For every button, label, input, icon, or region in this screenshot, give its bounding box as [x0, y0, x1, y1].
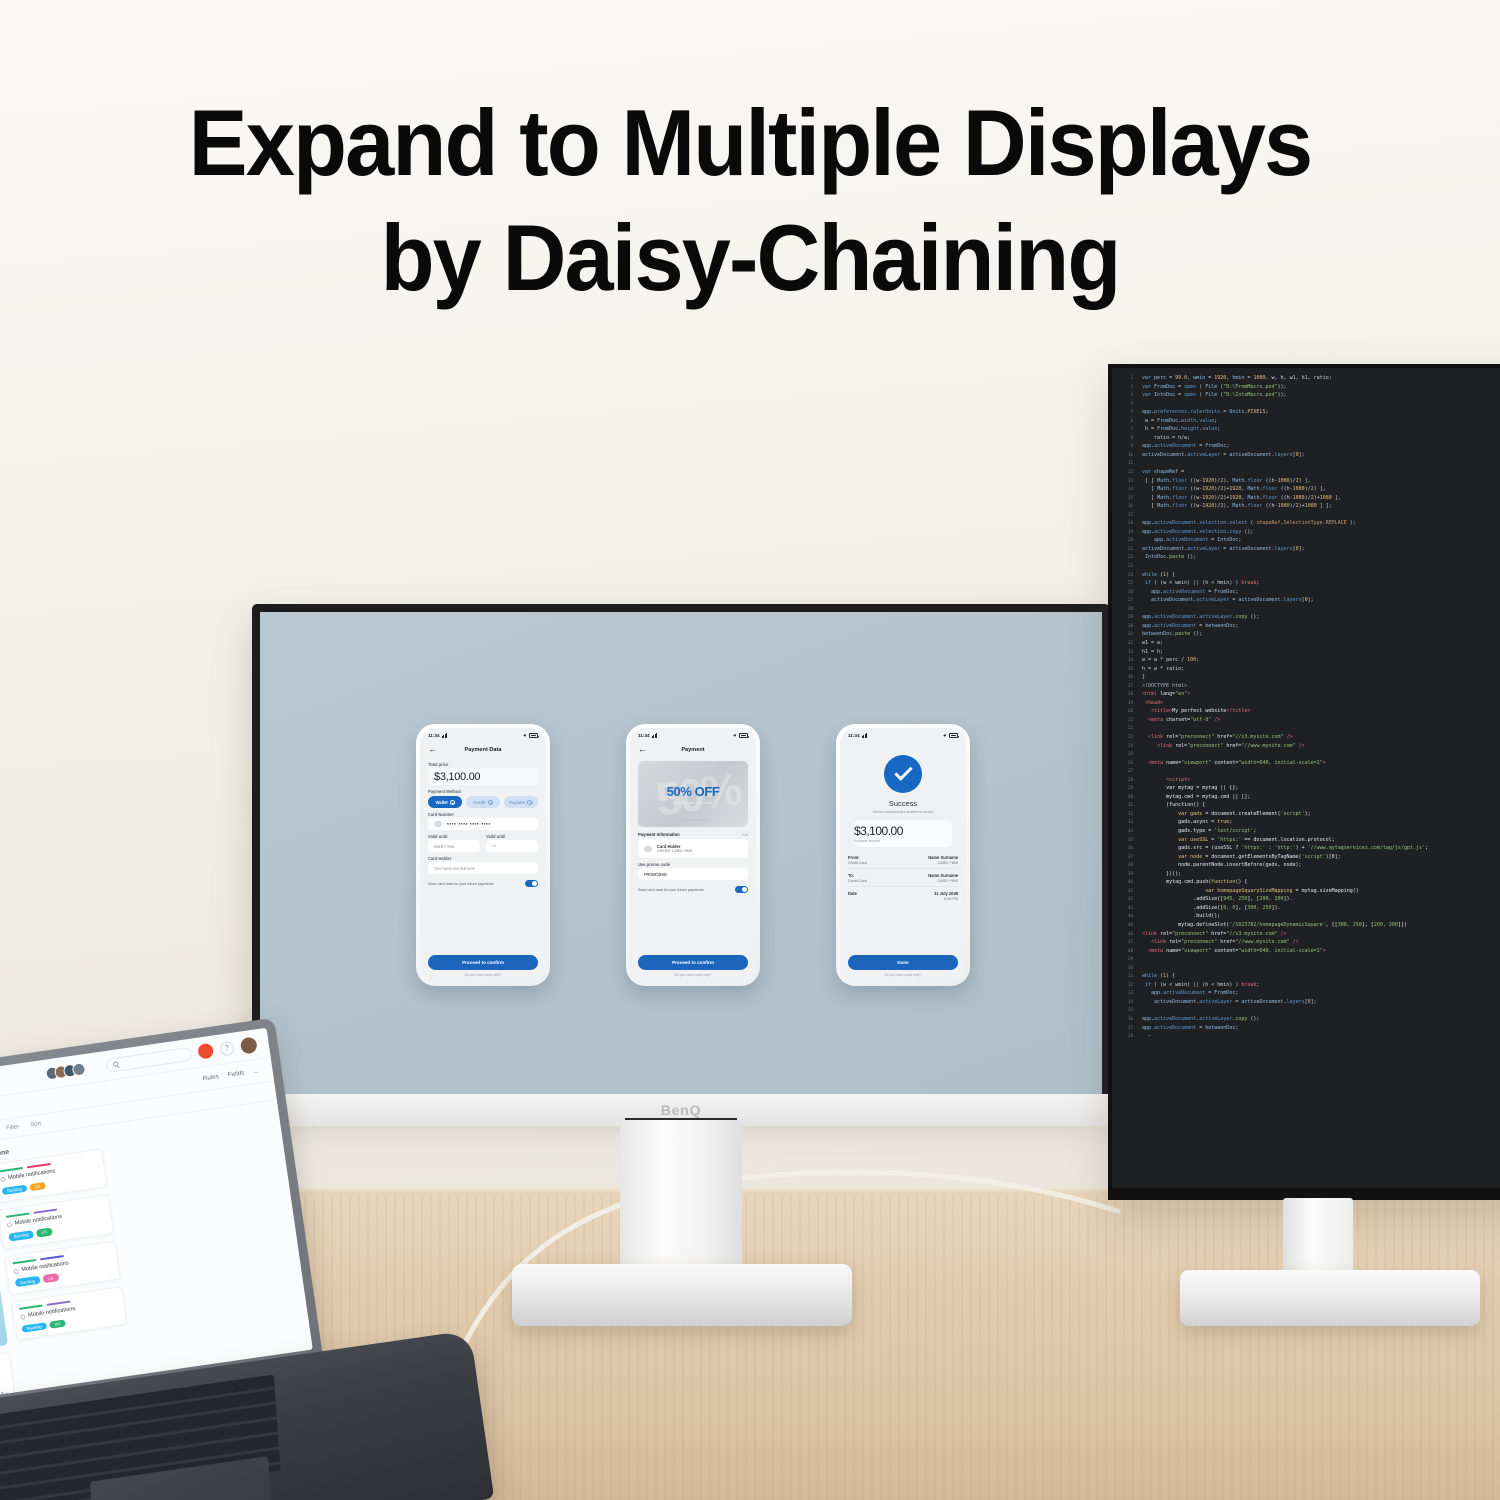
page-title: Expand to Multiple Displays by Daisy-Cha…: [45, 86, 1455, 315]
phone1-navbar: ← Payment Data: [420, 743, 546, 758]
signal-icon: [862, 733, 868, 738]
card-chip-icon: [644, 846, 652, 852]
line-number: 24: [1112, 742, 1138, 751]
code-line[interactable]: [1142, 459, 1500, 468]
line-number: 32: [1112, 810, 1138, 819]
code-line[interactable]: var IntoDoc = open ( File ("D:\IntoMacro…: [1142, 391, 1500, 400]
code-line[interactable]: [1142, 1006, 1500, 1015]
line-number: 21: [1112, 545, 1138, 554]
line-number: 2: [1112, 383, 1138, 392]
kanban-card[interactable]: Mobile notificationsBacklogUX: [0, 1148, 108, 1203]
check-icon: [450, 800, 455, 805]
row-value-sub: CARD **890: [928, 861, 958, 865]
line-number: 38: [1112, 861, 1138, 870]
wifi-icon: ◕: [943, 733, 947, 739]
line-number: 28: [1112, 605, 1138, 614]
nav-fields[interactable]: Fields: [227, 1069, 245, 1078]
battery-icon: [739, 733, 748, 738]
card-number-value: **** **** **** ****: [447, 822, 491, 827]
code-line[interactable]: var perc = 99.0, wmin = 1920, hmin = 108…: [1142, 374, 1500, 383]
code-line[interactable]: activeDocument.activeLayer = activeDocum…: [1142, 545, 1500, 554]
code-line[interactable]: [1142, 511, 1500, 520]
code-line[interactable]: activeDocument.activeLayer = activeDocum…: [1142, 451, 1500, 460]
filter-button[interactable]: Filter: [6, 1124, 20, 1132]
nav-overflow[interactable]: ...: [253, 1067, 259, 1075]
phone2-footnote[interactable]: Do you need some help?: [630, 973, 756, 982]
code-line[interactable]: [1142, 964, 1500, 973]
save-card-label: Save card data for your future payments: [428, 882, 494, 886]
line-number: 14: [1112, 998, 1138, 1007]
line-number: 35: [1112, 665, 1138, 674]
proceed-to-confirm-button[interactable]: Proceed to confirm: [638, 955, 748, 970]
line-number: 34: [1112, 827, 1138, 836]
center-monitor-screen: 11:34 ◕ ← Payment Data Total price $3,10…: [260, 612, 1102, 1096]
line-number: 18: [1112, 519, 1138, 528]
code-line[interactable]: app.activeDocument.activeLayer.copy ();: [1142, 1015, 1500, 1024]
code-content[interactable]: var perc = 99.0, wmin = 1920, hmin = 108…: [1138, 368, 1500, 1188]
code-line[interactable]: node.parentNode.insertBefore(gads, node)…: [1142, 861, 1500, 870]
code-line[interactable]: gads.src = (useSSL ? 'https:' : 'http:')…: [1142, 844, 1500, 853]
line-number: 34: [1112, 656, 1138, 665]
phone2-title: Payment: [630, 747, 756, 753]
promo-terms: Terms and conditions apply: [676, 818, 710, 822]
status-badge[interactable]: Backlog: [21, 1322, 47, 1333]
code-line[interactable]: app.activeDocument = IntoDoc;: [1142, 536, 1500, 545]
saved-card-number: CREDIT CARD **900: [657, 849, 692, 853]
promo-headline: 50% OFF: [667, 784, 720, 799]
line-number: 13: [1112, 477, 1138, 486]
row-key: Date: [848, 891, 857, 896]
row-value-sub: 8:30 PM: [934, 897, 958, 901]
notifications-button[interactable]: [197, 1043, 214, 1060]
promo-banner: 50% 50% OFF on your next purchase Terms …: [638, 761, 748, 827]
code-line[interactable]: ratio = h/w;: [1142, 434, 1500, 443]
line-number: 22: [1112, 553, 1138, 562]
success-check-icon: [884, 755, 922, 793]
line-number: 28: [1112, 776, 1138, 785]
success-subtitle: You've successfully transferred money: [848, 810, 958, 814]
row-key: From:: [848, 855, 867, 860]
check-icon: [488, 800, 493, 805]
line-number: 26: [1112, 759, 1138, 768]
code-line[interactable]: [1142, 750, 1500, 759]
line-number: 3: [1112, 391, 1138, 400]
code-line[interactable]: —: [1142, 1032, 1500, 1041]
code-line[interactable]: var homepageSquarySizeMapping = mytag.si…: [1142, 887, 1500, 896]
table-row: To: Credit Card Name Surname CARD **890: [848, 869, 958, 887]
code-line[interactable]: app.activeDocument = FromDoc;: [1142, 588, 1500, 597]
status-badge[interactable]: UX: [42, 1273, 59, 1283]
code-line[interactable]: .addSize([945, 250], [200, 200]).: [1142, 895, 1500, 904]
code-line[interactable]: activeDocument.activeLayer = activeDocum…: [1142, 596, 1500, 605]
code-line[interactable]: var useSSL = 'https:' == document.locati…: [1142, 836, 1500, 845]
status-time: 11:34: [848, 733, 860, 738]
success-title: Success: [848, 799, 958, 808]
code-line[interactable]: var gads = document.createElement('scrip…: [1142, 810, 1500, 819]
code-line[interactable]: app.activeDocument = betweenDoc;: [1142, 622, 1500, 631]
code-line[interactable]: mytag.cmd.push(function() {: [1142, 878, 1500, 887]
amount-value: $3,100.00: [854, 824, 952, 838]
line-number: 7: [1112, 425, 1138, 434]
method-chip-credit[interactable]: Credit: [466, 796, 500, 808]
code-line[interactable]: app.activeDocument.selection.copy ();: [1142, 528, 1500, 537]
status-badge[interactable]: Backlog: [15, 1276, 41, 1287]
line-number: 32: [1112, 639, 1138, 648]
status-badge[interactable]: Backlog: [2, 1184, 28, 1195]
kanban-column: DoneMobile notificationsBacklogUXMobile …: [0, 1136, 137, 1409]
code-line[interactable]: [ Math.floor ((w-1920)/2)+1920, Math.flo…: [1142, 494, 1500, 503]
save-card-row: Save card data for your future payments: [638, 886, 748, 893]
code-line[interactable]: <link rel="preconnect" href="//s3.mysite…: [1142, 930, 1500, 939]
code-line[interactable]: app.activeDocument = FromDoc;: [1142, 442, 1500, 451]
done-button[interactable]: Done: [848, 955, 958, 970]
line-number: 36: [1112, 673, 1138, 682]
save-card-toggle[interactable]: [525, 880, 538, 887]
center-monitor-neck: [620, 1120, 742, 1270]
edit-link[interactable]: Edit: [742, 833, 748, 837]
line-number: 45: [1112, 921, 1138, 930]
valid-until-label-2: Valid until: [486, 834, 538, 839]
row-value: Name Surname: [928, 873, 958, 878]
line-number: 19: [1112, 699, 1138, 708]
success-header: Success You've successfully transferred …: [848, 743, 958, 814]
code-line[interactable]: (function() {: [1142, 801, 1500, 810]
nav-rules[interactable]: Rules: [202, 1073, 219, 1082]
line-number: 22: [1112, 724, 1138, 733]
line-number: 16: [1112, 1015, 1138, 1024]
code-line[interactable]: var mytag = mytag || {};: [1142, 784, 1500, 793]
line-number: 6: [1112, 417, 1138, 426]
code-line[interactable]: }: [1142, 673, 1500, 682]
battery-icon: [529, 733, 538, 738]
line-number: 30: [1112, 622, 1138, 631]
row-value: 11 July 2045: [934, 891, 958, 896]
line-number: 5: [1112, 408, 1138, 417]
battery-icon: [949, 733, 958, 738]
chip-label: Wallet: [436, 800, 448, 805]
center-monitor-base: [512, 1264, 852, 1326]
code-line[interactable]: <title>My perfect website</title>: [1142, 707, 1500, 716]
line-number: 17: [1112, 682, 1138, 691]
promo-sub: on your next purchase: [673, 800, 713, 805]
code-line[interactable]: while (1) {: [1142, 571, 1500, 580]
payment-information-header: Payment Information Edit: [638, 832, 748, 837]
code-line[interactable]: mytag.defineSlot('/1023782/homepageDynam…: [1142, 921, 1500, 930]
chip-label: Credit: [473, 800, 485, 805]
status-badge[interactable]: UX: [36, 1227, 53, 1237]
line-number: 43: [1112, 904, 1138, 913]
webcam-icon: [0, 1060, 1, 1066]
payment-information-label: Payment Information: [638, 832, 680, 837]
code-line[interactable]: gads.type = 'text/script';: [1142, 827, 1500, 836]
headline-line-2: by Daisy-Chaining: [45, 201, 1455, 316]
line-number: 12: [1112, 981, 1138, 990]
amount-box: $3,100.00 Request amount: [854, 820, 952, 847]
code-line[interactable]: [1142, 605, 1500, 614]
status-circle-icon: [7, 1222, 13, 1228]
headline-line-1: Expand to Multiple Displays: [189, 90, 1312, 195]
phone-mockup-success: 11:34 ◕ Success You've successfully: [836, 724, 970, 986]
code-line[interactable]: var FromDoc = open ( File ("D:\FromMacro…: [1142, 383, 1500, 392]
code-line[interactable]: .addSize([0, 0], [300, 250]).: [1142, 904, 1500, 913]
line-number: 18: [1112, 1032, 1138, 1041]
total-price-value: $3,100.00: [428, 768, 538, 785]
line-number: 31: [1112, 801, 1138, 810]
line-number: 44: [1112, 912, 1138, 921]
save-card-row: Save card data for your future payments: [428, 880, 538, 887]
saved-card-row[interactable]: Card Holder CREDIT CARD **900: [638, 839, 748, 858]
line-number: 11: [1112, 972, 1138, 981]
phone-mockup-payment: 11:34 ◕ ← Payment 50% 50% OFF: [626, 724, 760, 986]
line-number: 39: [1112, 870, 1138, 879]
code-line[interactable]: app.activeDocument.selection.select ( sh…: [1142, 519, 1500, 528]
code-line[interactable]: while (1) {: [1142, 972, 1500, 981]
status-badge[interactable]: UX: [29, 1181, 46, 1191]
code-line[interactable]: if ( (w < wmin) || (h < hmin) ) break;: [1142, 579, 1500, 588]
kanban-card[interactable]: Mobile notificationsBacklogUX: [0, 1194, 114, 1249]
line-number: 17: [1112, 511, 1138, 520]
code-line[interactable]: w = w * perc / 100;: [1142, 656, 1500, 665]
help-icon[interactable]: ?: [219, 1040, 235, 1056]
code-line[interactable]: var shapeRef =: [1142, 468, 1500, 477]
code-line[interactable]: .build();: [1142, 912, 1500, 921]
phone2-navbar: ← Payment: [630, 743, 756, 758]
line-number: 8: [1112, 434, 1138, 443]
card-holder-input[interactable]: Your Name and Surname: [428, 862, 538, 874]
code-line[interactable]: var node = document.getElementsByTagName…: [1142, 853, 1500, 862]
line-number: 30: [1112, 793, 1138, 802]
chip-label: Paylater: [509, 800, 525, 805]
line-number: 41: [1112, 887, 1138, 896]
code-line[interactable]: w1 = w;: [1142, 639, 1500, 648]
check-icon: [527, 800, 532, 805]
code-line[interactable]: <!DOCTYPE html>: [1142, 682, 1500, 691]
phone1-footnote[interactable]: Do you need some help?: [420, 973, 546, 982]
payment-method-chips: Wallet Credit Paylater: [428, 796, 538, 808]
wifi-icon: ◕: [523, 733, 527, 739]
status-circle-icon: [20, 1314, 26, 1320]
payment-method-label: Payment Method: [428, 789, 538, 794]
promo-code-input[interactable]: PROMO2045: [638, 868, 748, 880]
code-line[interactable]: })();: [1142, 870, 1500, 879]
line-number: 10: [1112, 451, 1138, 460]
method-chip-paylater[interactable]: Paylater: [504, 796, 538, 808]
code-line[interactable]: activeDocument.activeLayer = activeDocum…: [1142, 998, 1500, 1007]
code-line[interactable]: app.preferences.rulerUnits = Units.PIXEL…: [1142, 408, 1500, 417]
code-line[interactable]: [1142, 767, 1500, 776]
save-card-toggle[interactable]: [735, 886, 748, 893]
valid-until-label-1: Valid until: [428, 834, 480, 839]
code-line[interactable]: <link rel="preconnect" href="//www.mysit…: [1142, 938, 1500, 947]
line-number: 9: [1112, 442, 1138, 451]
code-line[interactable]: [1142, 724, 1500, 733]
signal-icon: [442, 733, 448, 738]
phone1-title: Payment Data: [420, 747, 546, 753]
search-icon: [113, 1061, 119, 1067]
right-monitor-neck: [1283, 1198, 1353, 1276]
code-line[interactable]: <meta name="viewport" content="width=640…: [1142, 759, 1500, 768]
code-line[interactable]: h = FromDoc.height.value;: [1142, 425, 1500, 434]
code-line[interactable]: <script>: [1142, 776, 1500, 785]
code-line[interactable]: w = FromDoc.width.value;: [1142, 417, 1500, 426]
benq-logo: BenQ: [661, 1102, 702, 1118]
line-number: 19: [1112, 528, 1138, 537]
line-number: 26: [1112, 588, 1138, 597]
line-number: 15: [1112, 1006, 1138, 1015]
card-number-label: Card Number: [428, 812, 538, 817]
search-input[interactable]: [105, 1046, 192, 1072]
right-monitor: 1234567891011121314151617181920212223242…: [1108, 364, 1500, 1200]
card-number-input[interactable]: **** **** **** ****: [428, 818, 538, 830]
code-line[interactable]: app activeDocument = betweenDoc;: [1142, 1024, 1500, 1033]
line-number: 21: [1112, 716, 1138, 725]
line-number: 14: [1112, 485, 1138, 494]
code-line[interactable]: mytag.cmd = mytag.cmd || [];: [1142, 793, 1500, 802]
row-key-sub: Credit Card: [848, 879, 867, 883]
line-number: 13: [1112, 989, 1138, 998]
code-line[interactable]: [1142, 400, 1500, 409]
row-value-sub: CARD **890: [928, 879, 958, 883]
center-monitor: 11:34 ◕ ← Payment Data Total price $3,10…: [252, 604, 1110, 1102]
code-line[interactable]: <meta name="viewport" content="width=640…: [1142, 947, 1500, 956]
line-number: 42: [1112, 895, 1138, 904]
code-line[interactable]: h = w * ratio;: [1142, 665, 1500, 674]
proceed-to-confirm-button[interactable]: Proceed to confirm: [428, 955, 538, 970]
sort-button[interactable]: Sort: [30, 1121, 42, 1129]
valid-until-input-2[interactable]: ***: [486, 840, 538, 852]
valid-until-input-1[interactable]: Month / Year: [428, 840, 480, 852]
line-number: 17: [1112, 1024, 1138, 1033]
line-number: 30: [1112, 964, 1138, 973]
code-line[interactable]: [1142, 562, 1500, 571]
code-line[interactable]: IntoDoc.paste ();: [1142, 553, 1500, 562]
code-line[interactable]: [1142, 955, 1500, 964]
code-line[interactable]: [ [ Math.floor ((w-1920)/2), Math.floor …: [1142, 477, 1500, 486]
line-number: 46: [1112, 930, 1138, 939]
status-circle-icon: [0, 1177, 6, 1183]
code-line[interactable]: gads.async = true;: [1142, 818, 1500, 827]
line-number: 35: [1112, 836, 1138, 845]
card-holder-label: Card Holder: [428, 856, 538, 861]
code-line[interactable]: <head>: [1142, 699, 1500, 708]
code-line[interactable]: [ Math.floor ((w-1920)/2), Math.floor ((…: [1142, 502, 1500, 511]
status-badge[interactable]: Backlog: [8, 1230, 34, 1241]
line-number: 23: [1112, 562, 1138, 571]
line-number: 23: [1112, 733, 1138, 742]
row-value: Name Surname: [928, 855, 958, 860]
code-line[interactable]: [ Math.floor ((w-1920)/2)+1920, Math.flo…: [1142, 485, 1500, 494]
line-number: 24: [1112, 571, 1138, 580]
save-card-label: Save card data for your future payments: [638, 888, 704, 892]
line-number: 25: [1112, 579, 1138, 588]
wifi-icon: ◕: [733, 733, 737, 739]
phone1-status-bar: 11:34 ◕: [420, 728, 546, 743]
status-time: 11:34: [638, 733, 650, 738]
line-number: 15: [1112, 494, 1138, 503]
line-number: 29: [1112, 613, 1138, 622]
method-chip-wallet[interactable]: Wallet: [428, 796, 462, 808]
line-number: 33: [1112, 648, 1138, 657]
kanban-card[interactable]: Mobile notificationsBacklogUX: [4, 1240, 120, 1295]
line-number: 25: [1112, 750, 1138, 759]
phone2-status-bar: 11:34 ◕: [630, 728, 756, 743]
line-number: 48: [1112, 947, 1138, 956]
line-number: 12: [1112, 468, 1138, 477]
line-number: 47: [1112, 938, 1138, 947]
avatar[interactable]: [240, 1036, 258, 1054]
line-number: 29: [1112, 955, 1138, 964]
signal-icon: [652, 733, 658, 738]
avatar-group[interactable]: [49, 1062, 86, 1080]
line-number: 31: [1112, 630, 1138, 639]
line-number: 18: [1112, 690, 1138, 699]
table-row: From: Credit Card Name Surname CARD **89…: [848, 851, 958, 869]
line-number: 29: [1112, 784, 1138, 793]
line-number: 20: [1112, 536, 1138, 545]
code-line[interactable]: if ( (w < wmin) || (h < hmin) ) break;: [1142, 981, 1500, 990]
row-key-sub: Credit Card: [848, 861, 867, 865]
status-badge[interactable]: UX: [49, 1319, 66, 1329]
line-number: 1: [1112, 374, 1138, 383]
code-editor[interactable]: 1234567891011121314151617181920212223242…: [1112, 368, 1500, 1188]
code-line[interactable]: app.activeDocument.activeLayer.copy ();: [1142, 613, 1500, 622]
code-gutter: 1234567891011121314151617181920212223242…: [1112, 368, 1138, 1188]
status-circle-icon: [13, 1268, 19, 1274]
phone3-footnote[interactable]: Do you need some help?: [840, 973, 966, 982]
total-price-label: Total price: [428, 762, 538, 767]
line-number: 27: [1112, 596, 1138, 605]
phone-mockup-payment-data: 11:34 ◕ ← Payment Data Total price $3,10…: [416, 724, 550, 986]
line-number: 37: [1112, 853, 1138, 862]
code-line[interactable]: <link rel="preconnect" href="//s3.mysite…: [1142, 733, 1500, 742]
line-number: 36: [1112, 844, 1138, 853]
status-time: 11:34: [428, 733, 440, 738]
kanban-card[interactable]: Mobile notificationsBacklogUX: [11, 1286, 127, 1341]
line-number: 40: [1112, 878, 1138, 887]
line-number: 33: [1112, 818, 1138, 827]
code-line[interactable]: app.activeDocument = FromDoc;: [1142, 989, 1500, 998]
table-row: Date 11 July 2045 8:30 PM: [848, 887, 958, 904]
phone3-status-bar: 11:34 ◕: [840, 728, 966, 743]
code-line[interactable]: h1 = h;: [1142, 648, 1500, 657]
right-monitor-base: [1180, 1270, 1480, 1326]
code-line[interactable]: <html lang="en">: [1142, 690, 1500, 699]
line-number: 27: [1112, 767, 1138, 776]
row-key: To:: [848, 873, 867, 878]
promo-code-label: Use promo code: [638, 862, 748, 867]
line-number: 11: [1112, 459, 1138, 468]
code-line[interactable]: betweenDoc.paste ();: [1142, 630, 1500, 639]
line-number: 20: [1112, 707, 1138, 716]
line-number: 4: [1112, 400, 1138, 409]
card-chip-icon: [434, 821, 442, 827]
line-number: 16: [1112, 502, 1138, 511]
card-illustration: [0, 1283, 8, 1360]
amount-caption: Request amount: [854, 839, 952, 843]
code-line[interactable]: <link rel="preconnect" href="//www.mysit…: [1142, 742, 1500, 751]
code-line[interactable]: <meta charset="utf-8" />: [1142, 716, 1500, 725]
card-tags: Mid boardUX: [0, 1377, 7, 1399]
